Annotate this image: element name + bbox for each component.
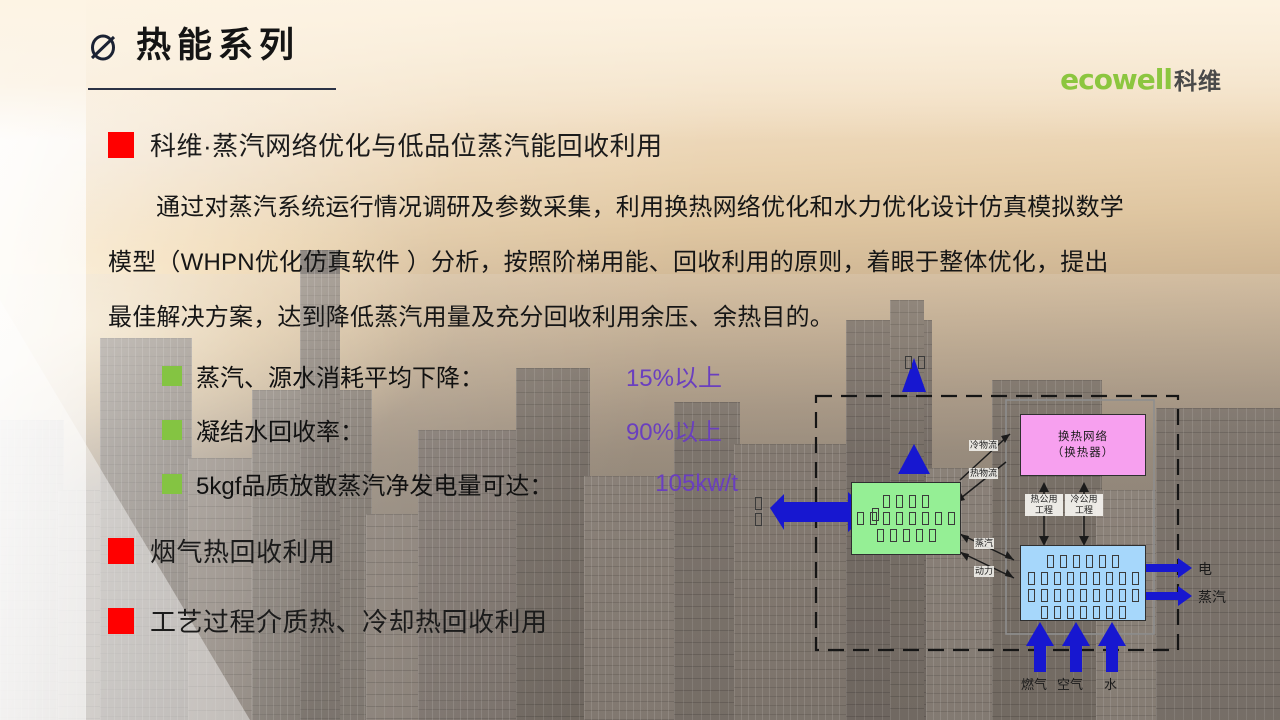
- metric-value: 15%以上: [626, 358, 722, 393]
- input-label-gas: 燃气: [1021, 674, 1047, 693]
- missing-glyph-icon: [909, 495, 916, 508]
- missing-glyph-icon: [1119, 589, 1126, 602]
- gas-input-arrow: [1026, 622, 1054, 672]
- green-square-bullet-icon: [162, 420, 182, 440]
- paragraph-line-1: 通过对蒸汽系统运行情况调研及参数采集，利用换热网络优化和水力优化设计仿真模拟数学: [108, 180, 1258, 235]
- red-square-bullet-icon: [108, 538, 134, 564]
- slashed-circle-icon: [88, 29, 118, 63]
- cold-utility-label-line2: 工程: [1065, 505, 1103, 516]
- missing-glyph-icon: [755, 497, 762, 510]
- hot-utility-label-line2: 工程: [1025, 505, 1063, 516]
- hot-utility-label-line1: 热公用: [1025, 494, 1063, 505]
- metric-row-power-generation: 5kgf品质放散蒸汽净发电量可达： 105kw/t: [162, 466, 738, 501]
- cold-stream-label: 冷物流: [969, 440, 998, 451]
- missing-glyph-icon: [1067, 606, 1074, 619]
- missing-glyph-icon: [1041, 589, 1048, 602]
- missing-glyph-icon: [1028, 572, 1035, 585]
- input-label-air: 空气: [1057, 674, 1083, 693]
- missing-glyph-icon: [1041, 572, 1048, 585]
- power-process-label: 动力: [974, 566, 994, 577]
- heat-exchange-network-line1: 换热网络: [1058, 429, 1108, 445]
- air-input-arrow: [1062, 622, 1090, 672]
- green-square-bullet-icon: [162, 474, 182, 494]
- missing-glyph-icon: [948, 512, 955, 525]
- water-input-arrow: [1098, 622, 1126, 672]
- heading-flue-gas-recovery: 烟气热回收利用: [108, 532, 336, 569]
- page-title-text: 热能系列: [136, 28, 300, 63]
- missing-glyph-icon: [890, 529, 897, 542]
- diagram-vectors: [748, 352, 1268, 698]
- glyph-row: [1021, 587, 1145, 604]
- brand-name: ecowell: [1060, 63, 1172, 96]
- green-square-bullet-icon: [162, 366, 182, 386]
- missing-glyph-icon: [1086, 555, 1093, 568]
- metric-value: 105kw/t: [655, 470, 738, 498]
- output-label-electricity: 电: [1198, 559, 1212, 579]
- hot-utility-label: 热公用 工程: [1025, 494, 1063, 516]
- missing-glyph-icon: [857, 512, 864, 525]
- missing-glyph-icon: [1119, 572, 1126, 585]
- hot-utility-arrow-up: [1039, 482, 1049, 492]
- cold-utility-arrow-up: [1079, 482, 1089, 492]
- glyph-row: [1021, 570, 1145, 587]
- metric-value: 90%以上: [626, 412, 722, 447]
- paragraph-line-3: 最佳解决方案，达到降低蒸汽用量及充分回收利用余压、余热目的。: [108, 290, 1258, 345]
- missing-glyph-icon: [909, 512, 916, 525]
- missing-glyph-icon: [1106, 589, 1113, 602]
- missing-glyph-icon: [1054, 606, 1061, 619]
- heading-steam-network-label: 科维·蒸汽网络优化与低品位蒸汽能回收利用: [150, 126, 663, 163]
- missing-glyph-icon: [755, 513, 762, 526]
- missing-glyph-icon: [1080, 572, 1087, 585]
- missing-glyph-icon: [1080, 606, 1087, 619]
- missing-glyph-icon: [883, 512, 890, 525]
- metric-label: 凝结水回收率：: [196, 412, 364, 447]
- body-paragraph: 通过对蒸汽系统运行情况调研及参数采集，利用换热网络优化和水力优化设计仿真模拟数学…: [108, 180, 1258, 345]
- missing-glyph-icon: [1041, 606, 1048, 619]
- heading-process-heat-recovery-label: 工艺过程介质热、冷却热回收利用: [150, 602, 548, 639]
- paragraph-line-2: 模型（WHPN优化仿真软件 ）分析，按照阶梯用能、回收利用的原则，着眼于整体优化…: [108, 235, 1258, 290]
- missing-glyph-icon: [1047, 555, 1054, 568]
- missing-glyph-icon: [1054, 572, 1061, 585]
- power-plant-blue-box: [1020, 545, 1146, 621]
- missing-glyph-icon: [1028, 589, 1035, 602]
- brand-logo: ecowell 科维: [1060, 62, 1222, 96]
- missing-glyph-icon: [935, 512, 942, 525]
- cold-utility-label-line1: 冷公用: [1065, 494, 1103, 505]
- missing-glyph-icon: [1132, 572, 1139, 585]
- missing-glyph-icon: [922, 512, 929, 525]
- heat-exchange-network-line2: （换热器）: [1052, 445, 1115, 461]
- red-square-bullet-icon: [108, 132, 134, 158]
- missing-glyph-icon: [1080, 589, 1087, 602]
- cold-utility-label: 冷公用 工程: [1065, 494, 1103, 516]
- missing-glyph-icon: [1073, 555, 1080, 568]
- missing-glyph-icon: [1119, 606, 1126, 619]
- missing-glyph-icon: [1132, 589, 1139, 602]
- missing-glyph-icon: [1106, 606, 1113, 619]
- output-label-steam: 蒸汽: [1198, 587, 1226, 607]
- missing-glyph-icon: [1067, 572, 1074, 585]
- missing-glyph-icon: [922, 495, 929, 508]
- missing-glyph-icon: [1067, 589, 1074, 602]
- missing-glyph-icon: [872, 508, 879, 521]
- missing-glyph-icon: [1093, 606, 1100, 619]
- missing-glyph-icon: [1054, 589, 1061, 602]
- metric-label: 蒸汽、源水消耗平均下降：: [196, 358, 484, 393]
- feed-label-glyphs: [750, 494, 766, 529]
- missing-glyph-icon: [929, 529, 936, 542]
- glyph-row: [852, 527, 960, 544]
- metric-label: 5kgf品质放散蒸汽净发电量可达：: [196, 466, 553, 501]
- heading-process-heat-recovery: 工艺过程介质热、冷却热回收利用: [108, 602, 548, 639]
- feed-target-glyph: [868, 505, 882, 524]
- metric-row-condensate: 凝结水回收率： 90%以上: [162, 412, 722, 447]
- missing-glyph-icon: [896, 512, 903, 525]
- missing-glyph-icon: [916, 529, 923, 542]
- missing-glyph-icon: [896, 495, 903, 508]
- glyph-row: [1021, 546, 1145, 570]
- red-square-bullet-icon: [108, 608, 134, 634]
- missing-glyph-icon: [905, 356, 912, 369]
- exhaust-label-glyphs: [894, 354, 936, 371]
- hot-stream-label: 热物流: [969, 468, 998, 479]
- missing-glyph-icon: [883, 495, 890, 508]
- power-arrowhead-left: [960, 552, 969, 561]
- steam-process-label: 蒸汽: [974, 538, 994, 549]
- missing-glyph-icon: [1112, 555, 1119, 568]
- heading-flue-gas-recovery-label: 烟气热回收利用: [150, 532, 336, 569]
- missing-glyph-icon: [1093, 589, 1100, 602]
- missing-glyph-icon: [903, 529, 910, 542]
- missing-glyph-icon: [1093, 572, 1100, 585]
- missing-glyph-icon: [1099, 555, 1106, 568]
- exhaust-arrow-base: [898, 444, 930, 474]
- metric-row-steam-water: 蒸汽、源水消耗平均下降： 15%以上: [162, 358, 722, 393]
- missing-glyph-icon: [918, 356, 925, 369]
- glyph-row: [1021, 604, 1145, 621]
- brand-name-cn: 科维: [1174, 62, 1222, 96]
- heading-steam-network: 科维·蒸汽网络优化与低品位蒸汽能回收利用: [108, 126, 663, 163]
- missing-glyph-icon: [877, 529, 884, 542]
- missing-glyph-icon: [1106, 572, 1113, 585]
- steam-arrowhead-left: [960, 534, 969, 543]
- page-title: 热能系列: [88, 28, 300, 63]
- title-underline: [88, 88, 336, 90]
- heat-exchange-network-box: 换热网络 （换热器）: [1020, 414, 1146, 476]
- process-flow-diagram: 换热网络 （换热器） 冷物流 热物流 蒸汽 动力 热公用 工程: [748, 352, 1268, 698]
- missing-glyph-icon: [1060, 555, 1067, 568]
- input-label-water: 水: [1104, 674, 1117, 693]
